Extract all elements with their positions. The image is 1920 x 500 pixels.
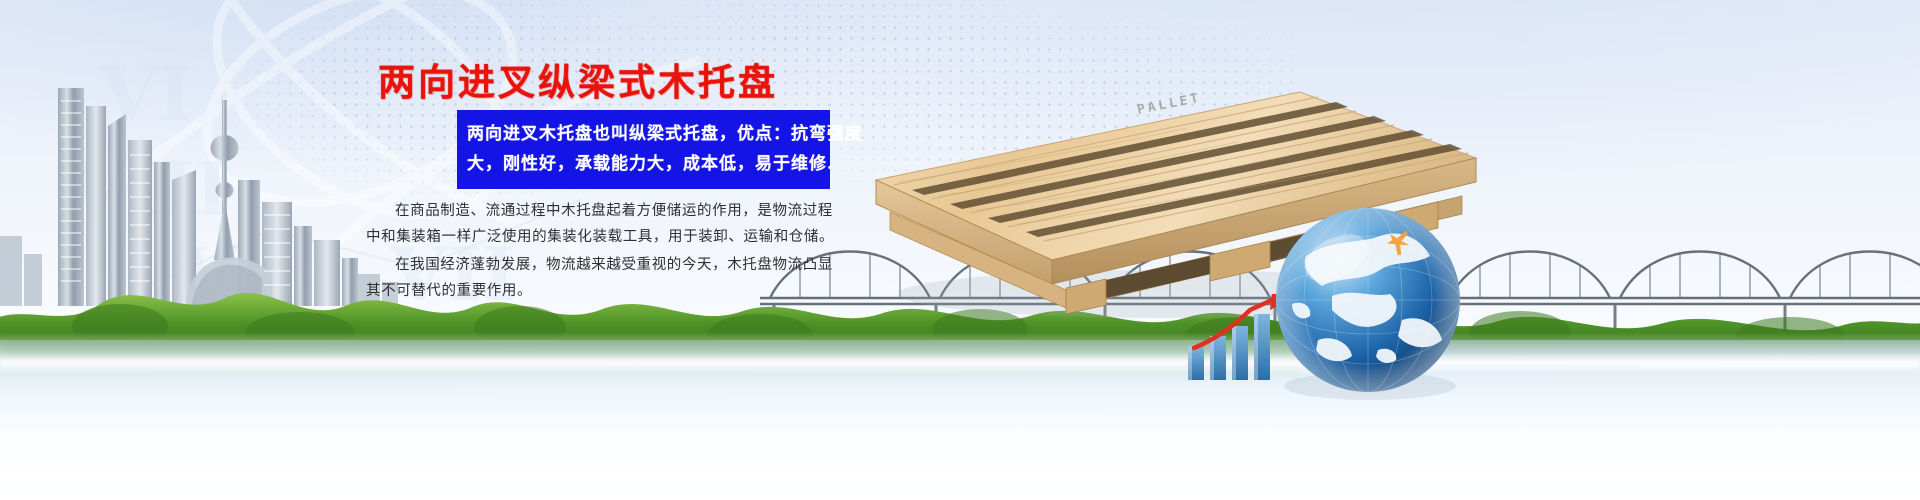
- description-paragraph-2: 在我国经济蓬勃发展，物流越来越受重视的今天，木托盘物流凸显其不可替代的重要作用。: [366, 252, 846, 304]
- banner-description: 在商品制造、流通过程中木托盘起着方便储运的作用，是物流过程中和集装箱一样广泛使用…: [366, 198, 846, 304]
- arch-bridge-icon: [760, 240, 1920, 350]
- highlight-callout: 两向进叉木托盘也叫纵梁式托盘，优点：抗弯强度 大，刚性好，承载能力大，成本低，易…: [457, 110, 830, 189]
- callout-line-2: 大，刚性好，承载能力大，成本低，易于维修.: [457, 149, 830, 179]
- sky-background: [0, 0, 1920, 330]
- water-reflection: [0, 340, 1920, 500]
- globe-icon: [1262, 200, 1474, 400]
- pallet-stencil-text: PALLET: [1136, 91, 1203, 118]
- callout-line-1: 两向进叉木托盘也叫纵梁式托盘，优点：抗弯强度: [457, 119, 830, 149]
- tree-line-icon: [0, 268, 1920, 360]
- banner-title: 两向进叉纵梁式木托盘: [378, 52, 778, 106]
- svg-text:VIII: VIII: [67, 147, 229, 233]
- growth-arrow-icon: [1188, 294, 1308, 354]
- svg-text:VI: VI: [99, 52, 192, 138]
- water-highlight: [0, 352, 1920, 374]
- wooden-pallet-icon: PALLET: [838, 62, 1478, 324]
- bar-chart-icon: [1180, 300, 1300, 380]
- description-paragraph-1: 在商品制造、流通过程中木托盘起着方便储运的作用，是物流过程中和集装箱一样广泛使用…: [366, 198, 846, 250]
- product-banner: VI VIII V VII: [0, 0, 1920, 500]
- water-green-reflection: [0, 336, 1300, 382]
- svg-text:V: V: [179, 232, 239, 318]
